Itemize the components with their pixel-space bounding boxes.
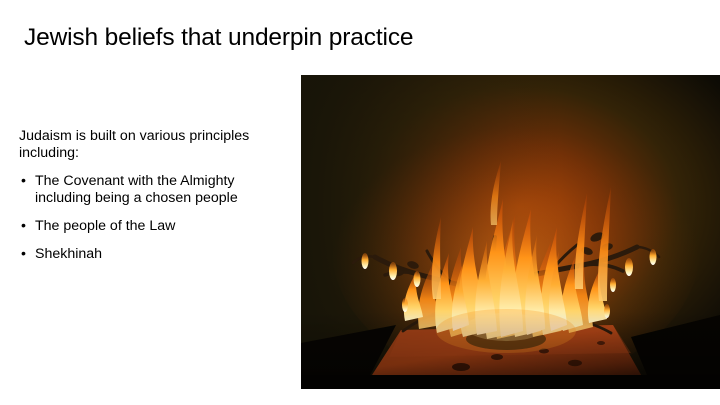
list-item-label: The people of the Law <box>35 218 175 234</box>
page-title: Jewish beliefs that underpin practice <box>24 24 584 52</box>
list-item-label: Shekhinah <box>35 246 102 262</box>
burning-bush-photo <box>301 75 720 389</box>
bullet-icon: • <box>21 173 26 190</box>
list-item: • Shekhinah <box>19 246 294 263</box>
slide-canvas: Jewish beliefs that underpin practice Ju… <box>0 0 720 405</box>
list-item-label: The Covenant with the Almighty including… <box>35 173 238 206</box>
bullet-icon: • <box>21 218 26 235</box>
bullet-icon: • <box>21 246 26 263</box>
bullet-list: • The Covenant with the Almighty includi… <box>19 173 294 263</box>
list-item: • The Covenant with the Almighty includi… <box>19 173 294 207</box>
body-text-block: Judaism is built on various principles i… <box>19 128 294 263</box>
list-item: • The people of the Law <box>19 218 294 235</box>
intro-paragraph: Judaism is built on various principles i… <box>19 128 294 162</box>
